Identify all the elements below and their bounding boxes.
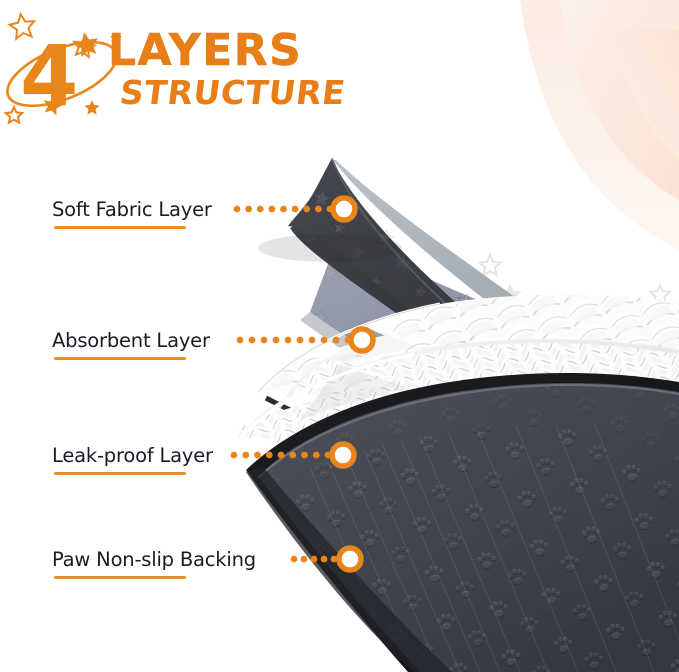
layer-count-number: 4 [20, 27, 78, 124]
label-text: Soft Fabric Layer [52, 198, 212, 221]
label-underline [54, 357, 186, 360]
label-leak-proof-layer: Leak-proof Layer [52, 444, 213, 467]
label-underline [54, 226, 186, 229]
label-text: Paw Non-slip Backing [52, 548, 256, 571]
label-text: Absorbent Layer [52, 329, 210, 352]
title-block: 4 LAYERS STRUCTURE [0, 6, 340, 121]
infographic-canvas: 4 LAYERS STRUCTURE Soft Fabric Layer Abs… [0, 0, 679, 672]
label-soft-fabric-layer: Soft Fabric Layer [52, 198, 212, 221]
label-text: Leak-proof Layer [52, 444, 213, 467]
title-line-layers: LAYERS [108, 29, 302, 73]
label-paw-non-slip-backing: Paw Non-slip Backing [52, 548, 256, 571]
label-underline [54, 472, 186, 475]
title-line-structure: STRUCTURE [118, 76, 347, 109]
label-absorbent-layer: Absorbent Layer [52, 329, 210, 352]
label-underline [54, 576, 186, 579]
